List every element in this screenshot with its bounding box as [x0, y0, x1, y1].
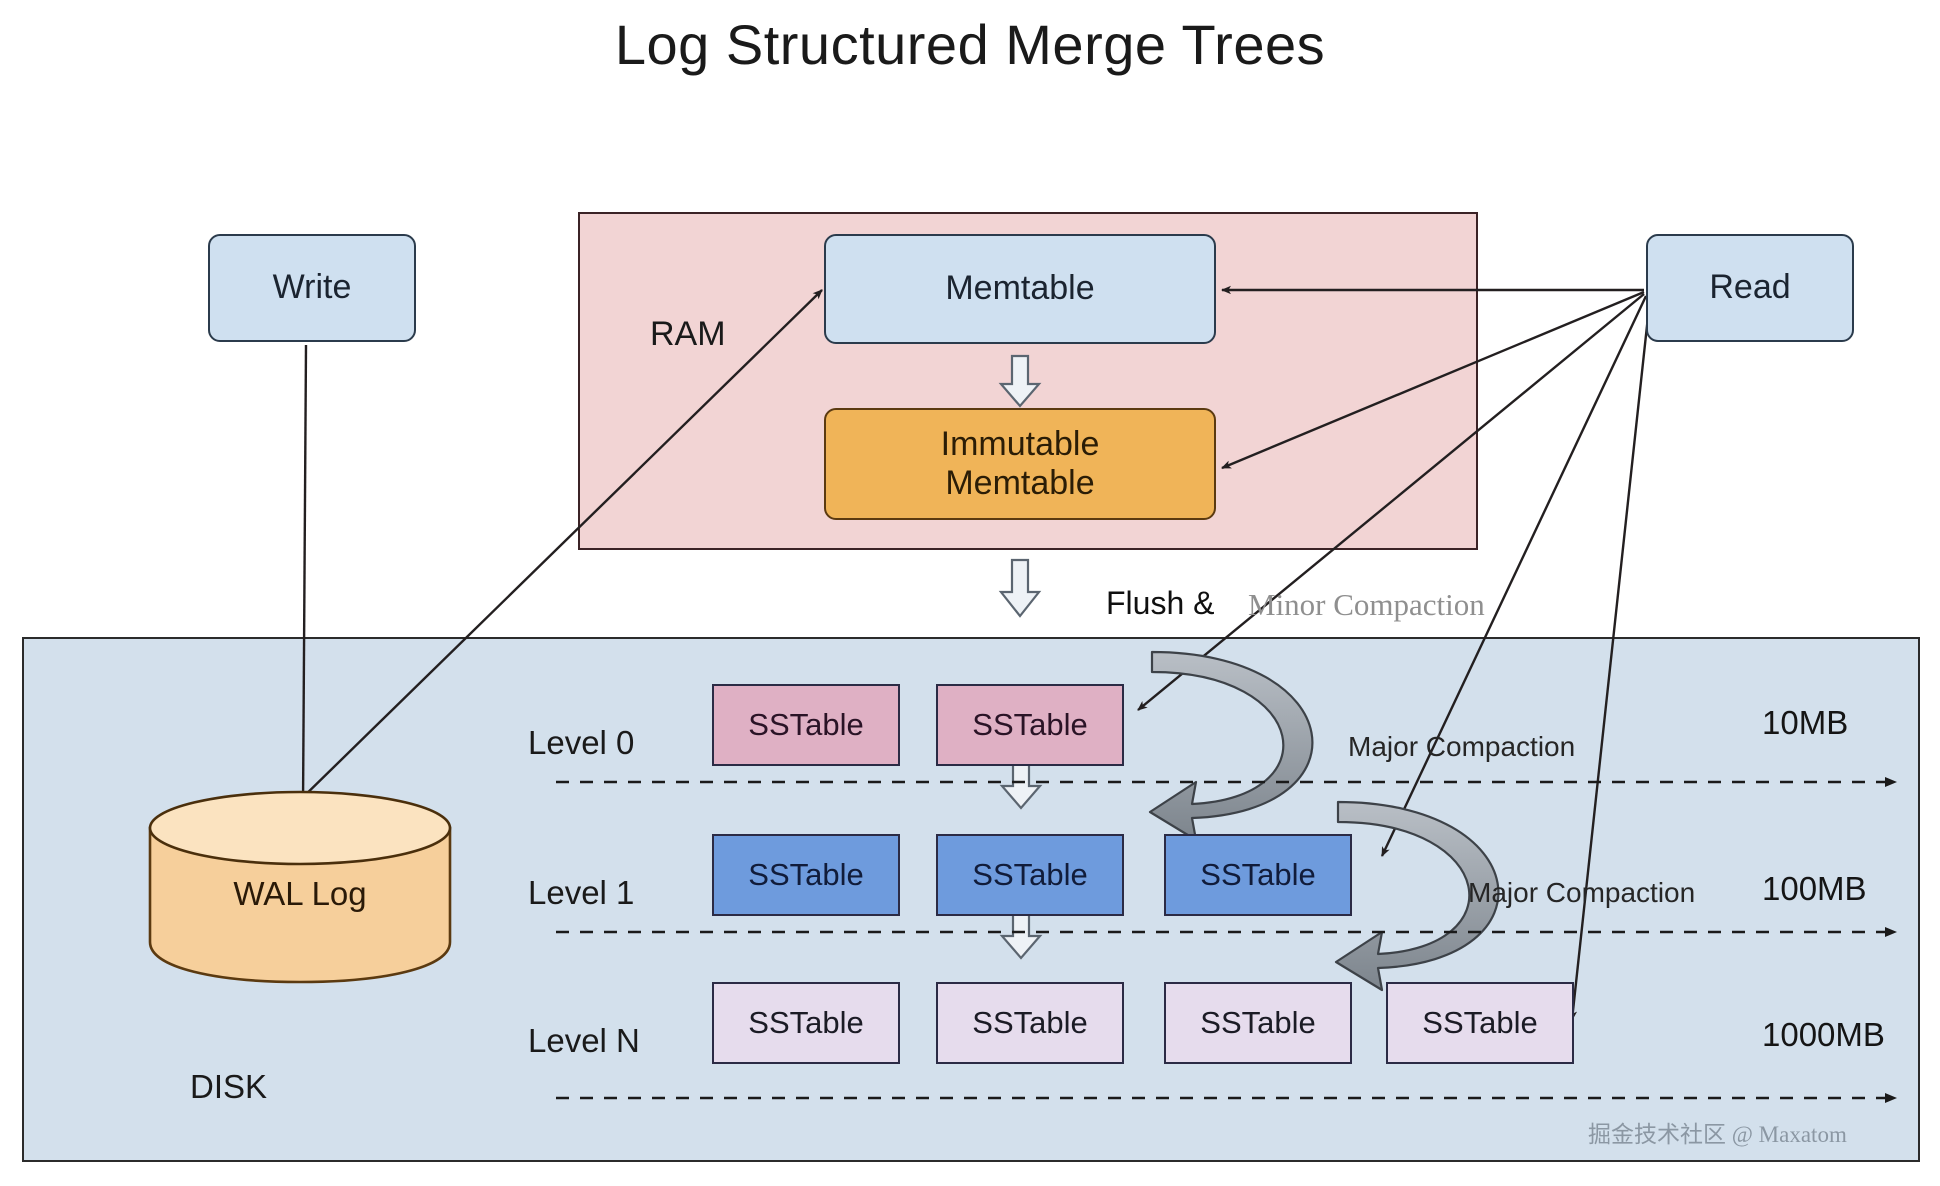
sstable-level1-1[interactable]: SSTable — [936, 834, 1124, 916]
wal-log-label: WAL Log — [150, 872, 450, 916]
sstable-leveln-0[interactable]: SSTable — [712, 982, 900, 1064]
read-label: Read — [1709, 268, 1790, 307]
sstable-label: SSTable — [1422, 1005, 1537, 1041]
sstable-label: SSTable — [1200, 857, 1315, 893]
sstable-label: SSTable — [972, 707, 1087, 743]
sstable-level0-1[interactable]: SSTable — [936, 684, 1124, 766]
size-label-leveln: 1000MB — [1762, 1012, 1940, 1058]
sstable-label: SSTable — [748, 857, 863, 893]
page-title: Log Structured Merge Trees — [0, 12, 1940, 77]
read-node[interactable]: Read — [1646, 234, 1854, 342]
level-label-1: Level 1 — [528, 870, 708, 916]
level-label-n: Level N — [528, 1018, 708, 1064]
size-label-level1: 100MB — [1762, 866, 1940, 912]
sstable-label: SSTable — [748, 707, 863, 743]
flush-label: Flush & — [1106, 580, 1266, 626]
sstable-leveln-2[interactable]: SSTable — [1164, 982, 1352, 1064]
sstable-level0-0[interactable]: SSTable — [712, 684, 900, 766]
sstable-label: SSTable — [748, 1005, 863, 1041]
sstable-label: SSTable — [1200, 1005, 1315, 1041]
disk-label: DISK — [190, 1065, 340, 1109]
major-compaction-label-1: Major Compaction — [1348, 726, 1648, 768]
immutable-memtable-label-line1: Immutable — [941, 425, 1100, 464]
size-label-level0: 10MB — [1762, 700, 1940, 746]
diagram-canvas: Log Structured Merge Trees RAM DISK — [0, 0, 1940, 1186]
write-node[interactable]: Write — [208, 234, 416, 342]
immutable-memtable-label-line2: Memtable — [945, 464, 1094, 503]
level-label-0: Level 0 — [528, 720, 708, 766]
sstable-leveln-3[interactable]: SSTable — [1386, 982, 1574, 1064]
sstable-level1-2[interactable]: SSTable — [1164, 834, 1352, 916]
major-compaction-label-2: Major Compaction — [1468, 872, 1768, 914]
ram-label: RAM — [650, 312, 770, 358]
memtable-label: Memtable — [945, 269, 1094, 308]
sstable-level1-0[interactable]: SSTable — [712, 834, 900, 916]
sstable-leveln-1[interactable]: SSTable — [936, 982, 1124, 1064]
write-label: Write — [273, 268, 352, 307]
minor-compaction-label: Minor Compaction — [1248, 582, 1548, 628]
block-arrow-flush — [1001, 560, 1039, 616]
sstable-label: SSTable — [972, 857, 1087, 893]
sstable-label: SSTable — [972, 1005, 1087, 1041]
watermark: 掘金技术社区 @ Maxatom — [1588, 1118, 1918, 1152]
immutable-memtable-node[interactable]: Immutable Memtable — [824, 408, 1216, 520]
memtable-node[interactable]: Memtable — [824, 234, 1216, 344]
